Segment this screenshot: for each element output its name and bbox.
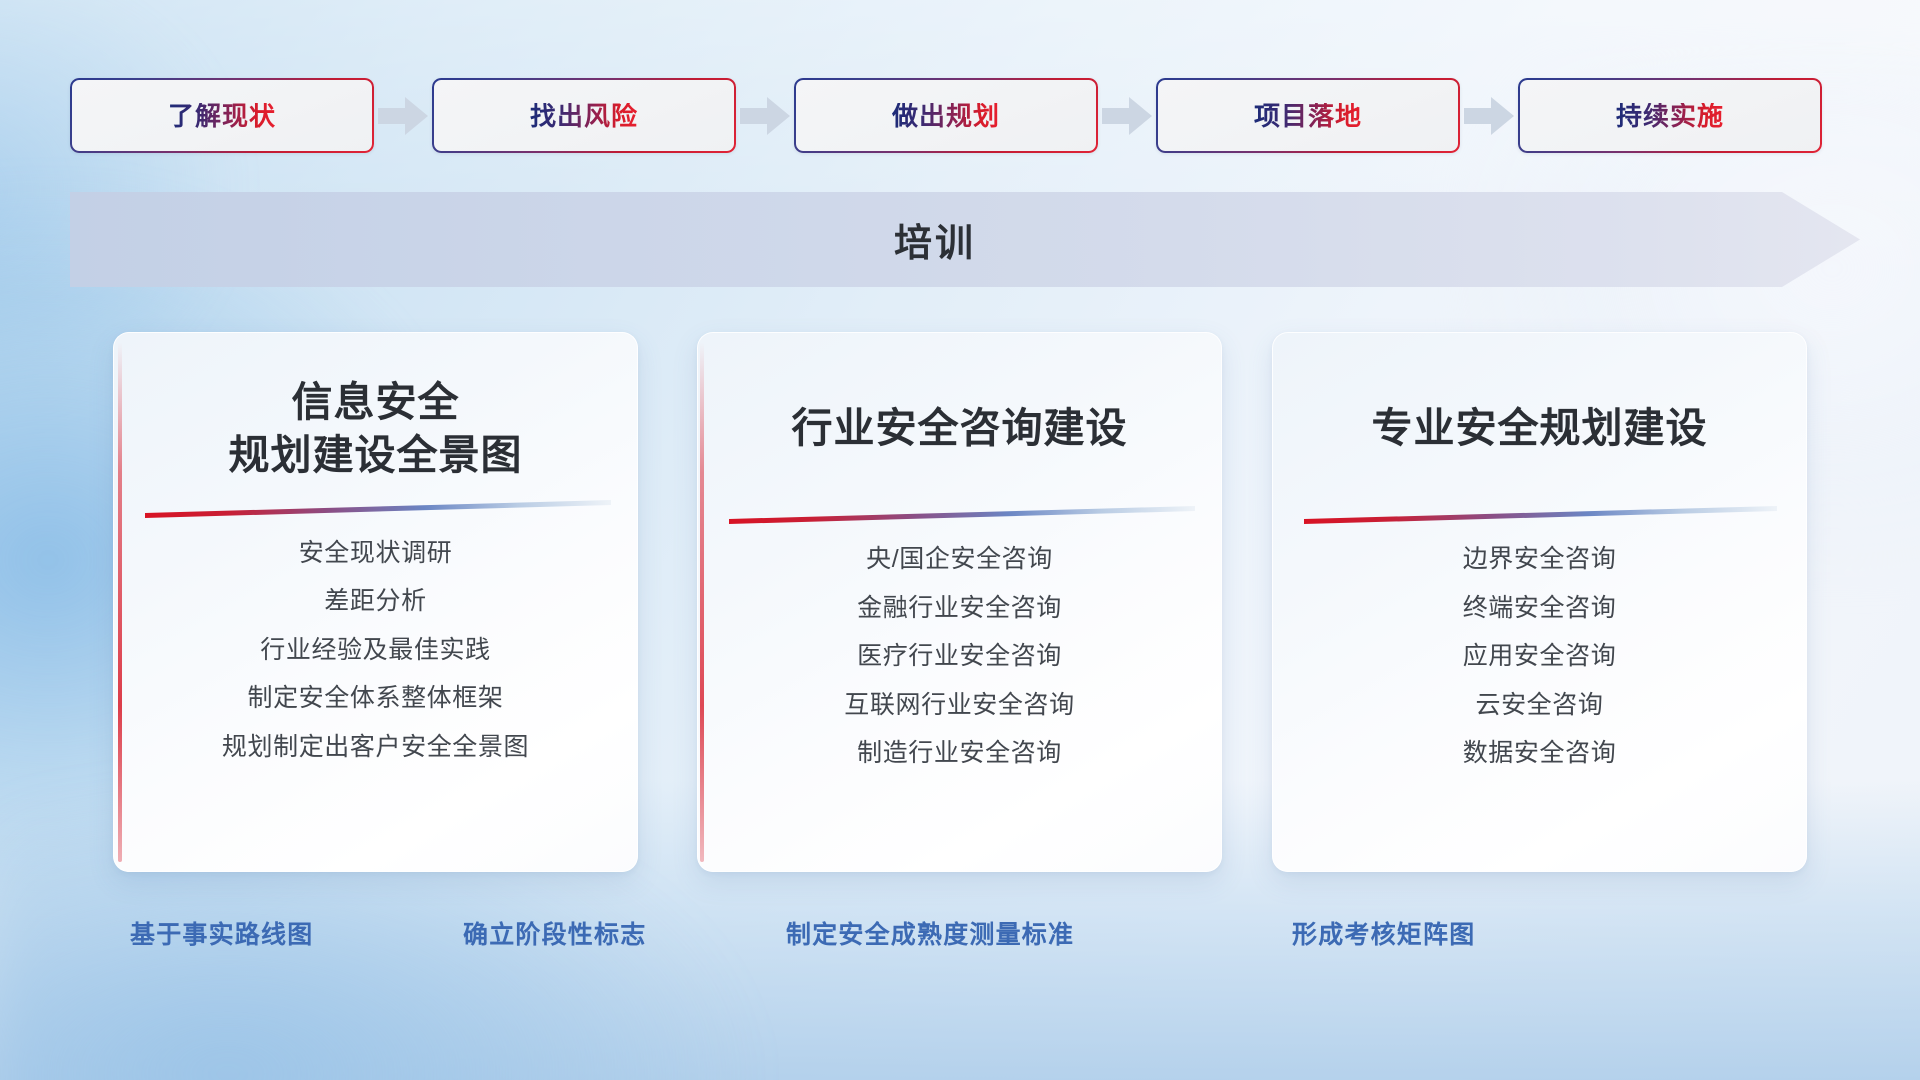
card-3-title: 专业安全规划建设 <box>1372 402 1708 455</box>
card-professional-security-planning[interactable]: 专业安全规划建设 <box>1272 332 1807 872</box>
slide-content: 了解现状 找出风险 做出规划 项目落地 <box>0 0 1920 1080</box>
process-step-2[interactable]: 找出风险 <box>432 78 736 153</box>
process-step-2-label: 找出风险 <box>530 103 638 129</box>
process-arrow-2-icon <box>736 78 794 153</box>
footnote-2: 确立阶段性标志 <box>463 915 646 951</box>
list-item: 安全现状调研 <box>299 535 453 573</box>
list-item: 医疗行业安全咨询 <box>857 638 1062 676</box>
list-item: 应用安全咨询 <box>1463 638 1617 676</box>
list-item: 制定安全体系整体框架 <box>247 680 503 718</box>
list-item: 行业经验及最佳实践 <box>260 632 490 670</box>
training-banner-label: 培训 <box>70 192 1800 287</box>
card-industry-security-consulting[interactable]: 行业安全咨询建设 <box>697 332 1222 872</box>
list-item: 金融行业安全咨询 <box>857 590 1062 628</box>
process-arrow-4-icon <box>1460 78 1518 153</box>
card-3-list: 边界安全咨询 终端安全咨询 应用安全咨询 云安全咨询 数据安全咨询 <box>1463 541 1617 773</box>
list-item: 制造行业安全咨询 <box>857 735 1062 773</box>
process-arrow-3-icon <box>1098 78 1156 153</box>
card-information-security-blueprint[interactable]: 信息安全 规划建设全景图 <box>113 332 638 872</box>
training-banner: 培训 <box>70 192 1860 287</box>
footnote-3: 制定安全成熟度测量标准 <box>786 915 1074 951</box>
card-row: 信息安全 规划建设全景图 <box>0 332 1920 872</box>
process-step-5-label: 持续实施 <box>1616 103 1724 129</box>
card-3-divider <box>1272 503 1807 525</box>
footnote-row: 基于事实路线图 确立阶段性标志 制定安全成熟度测量标准 形成考核矩阵图 <box>0 915 1920 965</box>
process-step-3[interactable]: 做出规划 <box>794 78 1098 153</box>
process-step-3-label: 做出规划 <box>892 103 1000 129</box>
card-2-list: 央/国企安全咨询 金融行业安全咨询 医疗行业安全咨询 互联网行业安全咨询 制造行… <box>844 541 1074 773</box>
process-step-1-label: 了解现状 <box>168 103 276 129</box>
process-step-flow: 了解现状 找出风险 做出规划 项目落地 <box>70 78 1850 153</box>
process-step-1[interactable]: 了解现状 <box>70 78 374 153</box>
list-item: 数据安全咨询 <box>1463 735 1617 773</box>
card-2-title: 行业安全咨询建设 <box>792 402 1128 455</box>
process-arrow-1-icon <box>374 78 432 153</box>
list-item: 规划制定出客户安全全景图 <box>222 729 529 767</box>
list-item: 终端安全咨询 <box>1463 590 1617 628</box>
footnote-1: 基于事实路线图 <box>130 915 313 951</box>
process-step-4-label: 项目落地 <box>1254 103 1362 129</box>
list-item: 互联网行业安全咨询 <box>844 687 1074 725</box>
list-item: 云安全咨询 <box>1475 687 1603 725</box>
card-2-divider <box>697 503 1222 525</box>
process-step-4[interactable]: 项目落地 <box>1156 78 1460 153</box>
footnote-4: 形成考核矩阵图 <box>1292 915 1475 951</box>
list-item: 央/国企安全咨询 <box>866 541 1053 579</box>
card-1-divider <box>113 497 638 519</box>
list-item: 边界安全咨询 <box>1463 541 1617 579</box>
process-step-5[interactable]: 持续实施 <box>1518 78 1822 153</box>
card-1-list: 安全现状调研 差距分析 行业经验及最佳实践 制定安全体系整体框架 规划制定出客户… <box>222 535 529 767</box>
card-1-title: 信息安全 规划建设全景图 <box>229 376 523 483</box>
list-item: 差距分析 <box>324 583 426 621</box>
